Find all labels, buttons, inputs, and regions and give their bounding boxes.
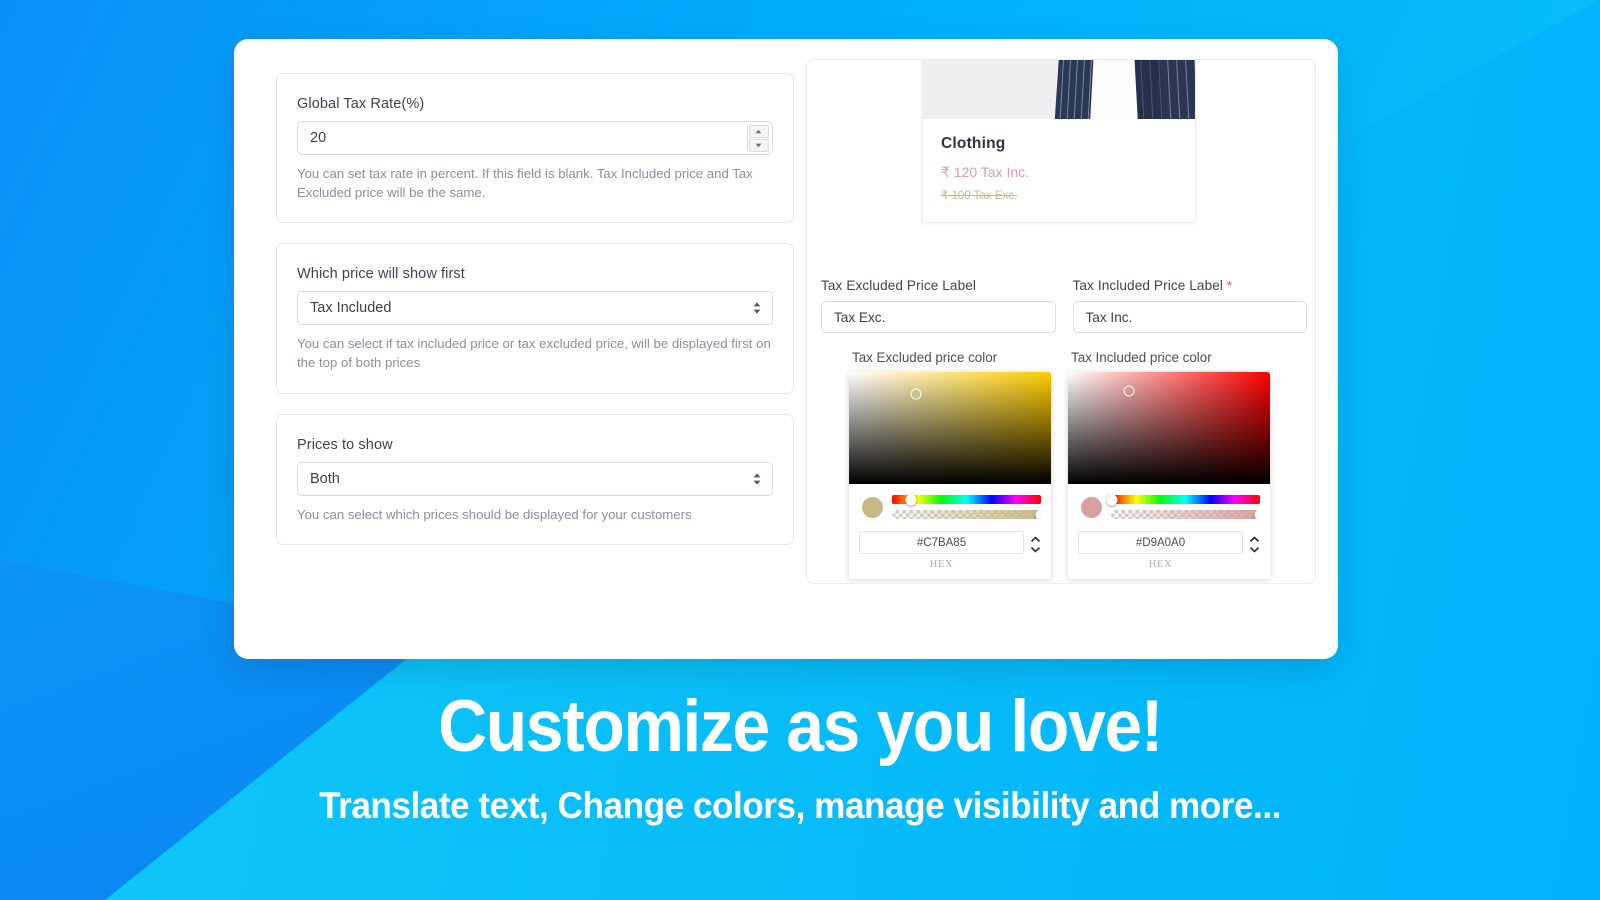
settings-column: Global Tax Rate(%): [276, 73, 794, 565]
label-text: Tax Included Price Label: [1073, 278, 1224, 293]
blazer-photo-illustration: [1028, 59, 1195, 119]
alpha-gradient: [892, 510, 1041, 519]
field-card-global-tax-rate: Global Tax Rate(%): [276, 73, 794, 223]
spinner-down-button[interactable]: [749, 139, 769, 152]
tax-included-label-field: Tax Included Price Label *: [1073, 278, 1308, 333]
picker-controls: [1068, 484, 1270, 525]
sliders: [892, 495, 1041, 519]
product-title: Clothing: [941, 135, 1177, 153]
product-image: [923, 59, 1195, 119]
hex-caption: HEX: [1078, 559, 1243, 570]
price-order-select[interactable]: Tax Included: [297, 291, 773, 325]
saturation-value-area[interactable]: [849, 372, 1051, 484]
app-window-card: Global Tax Rate(%): [234, 39, 1338, 659]
picker-body: HEX: [849, 372, 1051, 579]
saturation-pointer[interactable]: [1123, 386, 1134, 397]
hex-caption: HEX: [859, 559, 1024, 570]
triangle-up-icon: [755, 129, 762, 134]
saturation-value-area[interactable]: [1068, 372, 1270, 484]
product-details: Clothing ₹ 120 Tax Inc. ₹ 100 Tax Exc.: [923, 119, 1195, 222]
hex-row: HEX: [849, 525, 1051, 579]
price-order-select-value: Tax Included: [298, 300, 403, 316]
alpha-slider[interactable]: [1111, 510, 1260, 519]
help-price-order: You can select if tax included price or …: [297, 334, 773, 372]
color-pickers-row: Tax Excluded price color: [849, 350, 1270, 579]
chevron-updown-icon: [753, 473, 761, 485]
tax-excluded-label-field: Tax Excluded Price Label: [821, 278, 1056, 333]
label-prices-to-show: Prices to show: [297, 437, 773, 453]
hex-field: HEX: [1078, 531, 1243, 570]
label-tax-excluded-price-label: Tax Excluded Price Label: [821, 278, 1056, 293]
help-prices-to-show: You can select which prices should be di…: [297, 505, 773, 524]
alpha-slider-knob[interactable]: [1036, 510, 1042, 519]
chevron-up-icon: [1249, 536, 1260, 543]
current-color-swatch: [862, 497, 883, 518]
preview-and-color-panel: Clothing ₹ 120 Tax Inc. ₹ 100 Tax Exc. T…: [806, 59, 1316, 584]
label-text: Tax Excluded Price Label: [821, 278, 976, 293]
price-tax-excluded: ₹ 100 Tax Exc.: [941, 188, 1177, 202]
label-global-tax-rate: Global Tax Rate(%): [297, 96, 773, 112]
promo-screenshot: Global Tax Rate(%): [0, 0, 1600, 900]
spinner-up-button[interactable]: [749, 125, 769, 138]
price-tax-included: ₹ 120 Tax Inc.: [941, 164, 1177, 181]
hex-row: HEX: [1068, 525, 1270, 579]
tax-included-color-picker: Tax Included price color: [1068, 350, 1270, 579]
global-tax-rate-input-wrap[interactable]: [297, 121, 773, 155]
hex-input[interactable]: [1078, 531, 1243, 554]
triangle-down-icon: [755, 143, 762, 148]
label-price-order: Which price will show first: [297, 266, 773, 282]
hue-slider[interactable]: [892, 495, 1041, 504]
required-asterisk: *: [1227, 278, 1232, 293]
alpha-gradient: [1111, 510, 1260, 519]
field-card-price-order: Which price will show first Tax Included…: [276, 243, 794, 393]
promo-banner: Customize as you love! Translate text, C…: [0, 690, 1600, 827]
caption-tax-excluded-price-color: Tax Excluded price color: [849, 350, 1051, 365]
banner-title: Customize as you love!: [56, 690, 1544, 763]
picker-body: HEX: [1068, 372, 1270, 579]
chevron-up-icon: [1030, 536, 1041, 543]
global-tax-rate-input[interactable]: [298, 122, 747, 154]
hex-format-stepper[interactable]: [1030, 536, 1045, 565]
prices-to-show-select[interactable]: Both: [297, 462, 773, 496]
hue-slider-knob[interactable]: [906, 494, 917, 505]
help-global-tax-rate: You can set tax rate in percent. If this…: [297, 164, 773, 202]
price-label-fields: Tax Excluded Price Label Tax Included Pr…: [821, 278, 1307, 333]
picker-controls: [849, 484, 1051, 525]
banner-subtitle: Translate text, Change colors, manage vi…: [40, 785, 1560, 827]
tax-excluded-label-input[interactable]: [821, 301, 1056, 333]
hex-field: HEX: [859, 531, 1024, 570]
chevron-updown-icon: [753, 302, 761, 314]
chevron-down-icon: [1249, 546, 1260, 553]
label-tax-included-price-label: Tax Included Price Label *: [1073, 278, 1308, 293]
hex-input[interactable]: [859, 531, 1024, 554]
field-card-prices-to-show: Prices to show Both You can select which…: [276, 414, 794, 545]
product-preview-card: Clothing ₹ 120 Tax Inc. ₹ 100 Tax Exc.: [922, 59, 1196, 223]
saturation-pointer[interactable]: [910, 389, 921, 400]
tax-included-label-input[interactable]: [1073, 301, 1308, 333]
caption-tax-included-price-color: Tax Included price color: [1068, 350, 1270, 365]
chevron-down-icon: [1030, 546, 1041, 553]
prices-to-show-select-value: Both: [298, 471, 352, 487]
alpha-slider[interactable]: [892, 510, 1041, 519]
sliders: [1111, 495, 1260, 519]
hex-format-stepper[interactable]: [1249, 536, 1264, 565]
alpha-slider-knob[interactable]: [1255, 510, 1261, 519]
tax-excluded-color-picker: Tax Excluded price color: [849, 350, 1051, 579]
hue-slider-knob[interactable]: [1107, 494, 1118, 505]
current-color-swatch: [1081, 497, 1102, 518]
hue-slider[interactable]: [1111, 495, 1260, 504]
number-spinner[interactable]: [747, 124, 769, 152]
